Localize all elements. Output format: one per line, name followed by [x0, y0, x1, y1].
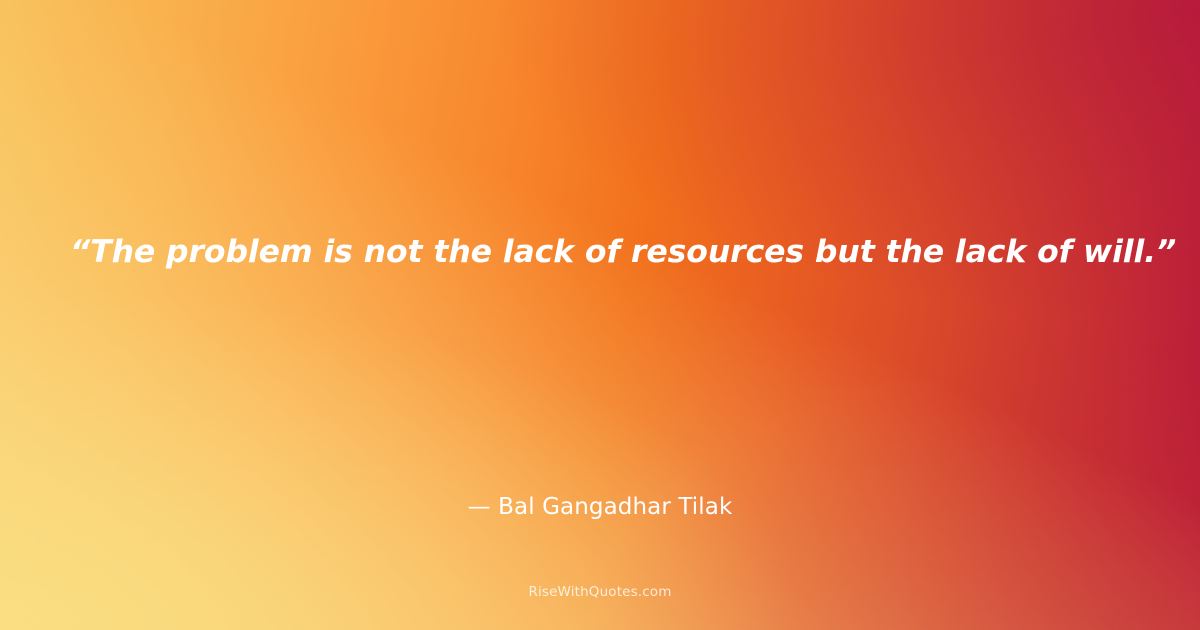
site-watermark: RiseWithQuotes.com — [0, 584, 1200, 600]
quote-text: “The problem is not the lack of resource… — [0, 232, 1200, 274]
quote-attribution: — Bal Gangadhar Tilak — [0, 494, 1200, 520]
quote-content: “The problem is not the lack of resource… — [0, 0, 1200, 630]
quote-card: “The problem is not the lack of resource… — [0, 0, 1200, 630]
